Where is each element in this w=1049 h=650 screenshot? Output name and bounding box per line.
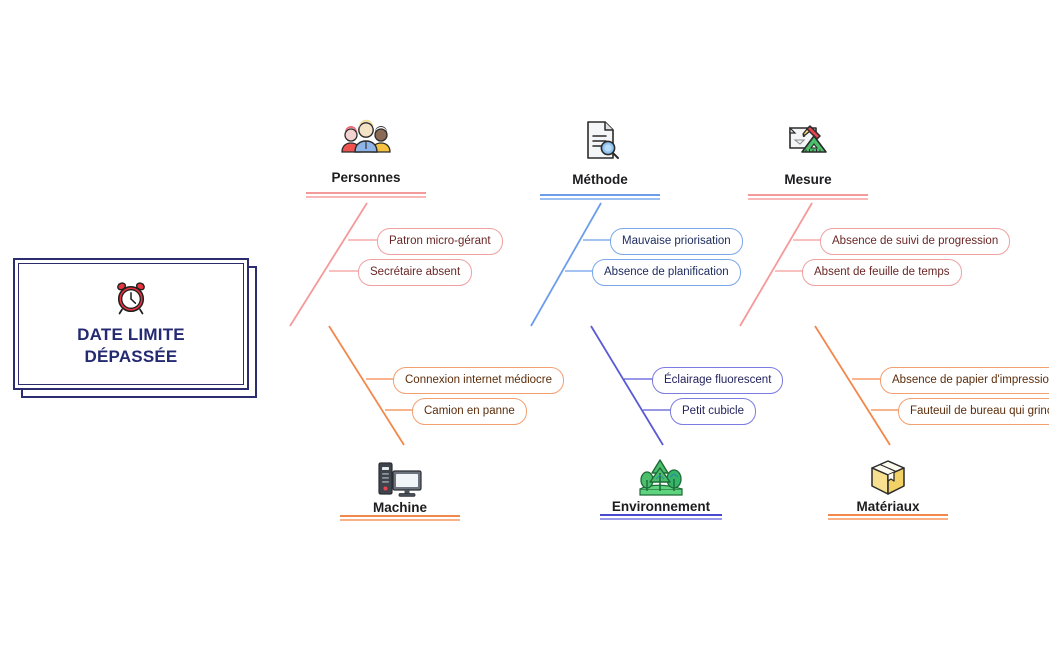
branch-line-methode [531, 203, 601, 326]
cause-pill-machine-2[interactable]: Camion en panne [412, 398, 527, 425]
category-rule-mesure [748, 194, 868, 199]
cause-pill-methode-1[interactable]: Mauvaise priorisation [610, 228, 743, 255]
head-title-line1: DATE LIMITE [77, 324, 185, 346]
category-rule-machine [340, 515, 460, 520]
head-title-line2: DÉPASSÉE [85, 346, 178, 368]
alarm-clock-icon [113, 280, 149, 316]
cause-pill-methode-2[interactable]: Absence de planification [592, 259, 741, 286]
cause-pill-mesure-2[interactable]: Absent de feuille de temps [802, 259, 962, 286]
trees-icon [600, 457, 722, 499]
cause-pill-mesure-1[interactable]: Absence de suivi de progression [820, 228, 1010, 255]
cause-pill-environnement-2[interactable]: Petit cubicle [670, 398, 756, 425]
category-materiaux[interactable]: Matériaux [828, 455, 948, 526]
category-rule-environnement [600, 514, 722, 519]
cause-pill-materiaux-2[interactable]: Fauteuil de bureau qui grince [898, 398, 1049, 425]
category-machine[interactable]: Machine [340, 458, 460, 527]
category-rule-materiaux [828, 514, 948, 519]
cause-pill-materiaux-1[interactable]: Absence de papier d'impression [880, 367, 1049, 394]
category-methode[interactable]: Méthode [540, 118, 660, 199]
category-personnes[interactable]: Personnes [306, 118, 426, 197]
cause-pill-personnes-1[interactable]: Patron micro-gérant [377, 228, 503, 255]
category-label-methode: Méthode [540, 172, 660, 187]
category-mesure[interactable]: Mesure [748, 118, 868, 199]
cardboard-box-icon [828, 457, 948, 499]
branch-line-personnes [290, 203, 367, 326]
branch-line-materiaux [815, 326, 890, 445]
branch-line-machine [329, 326, 404, 445]
desktop-computer-icon [340, 460, 460, 500]
category-label-mesure: Mesure [748, 172, 868, 187]
branch-line-mesure [740, 203, 812, 326]
problem-head[interactable]: DATE LIMITE DÉPASSÉE [13, 258, 257, 398]
people-group-icon [306, 118, 426, 160]
category-label-environnement: Environnement [600, 499, 722, 514]
category-rule-personnes [306, 192, 426, 197]
document-search-icon [540, 118, 660, 162]
category-label-materiaux: Matériaux [828, 499, 948, 514]
cause-pill-machine-1[interactable]: Connexion internet médiocre [393, 367, 564, 394]
category-environnement[interactable]: Environnement [600, 455, 722, 526]
category-label-personnes: Personnes [306, 170, 426, 185]
category-label-machine: Machine [340, 500, 460, 515]
cause-pill-environnement-1[interactable]: Éclairage fluorescent [652, 367, 783, 394]
head-box[interactable]: DATE LIMITE DÉPASSÉE [13, 258, 249, 390]
pencil-ruler-icon [748, 118, 868, 162]
category-rule-methode [540, 194, 660, 199]
cause-pill-personnes-2[interactable]: Secrétaire absent [358, 259, 472, 286]
